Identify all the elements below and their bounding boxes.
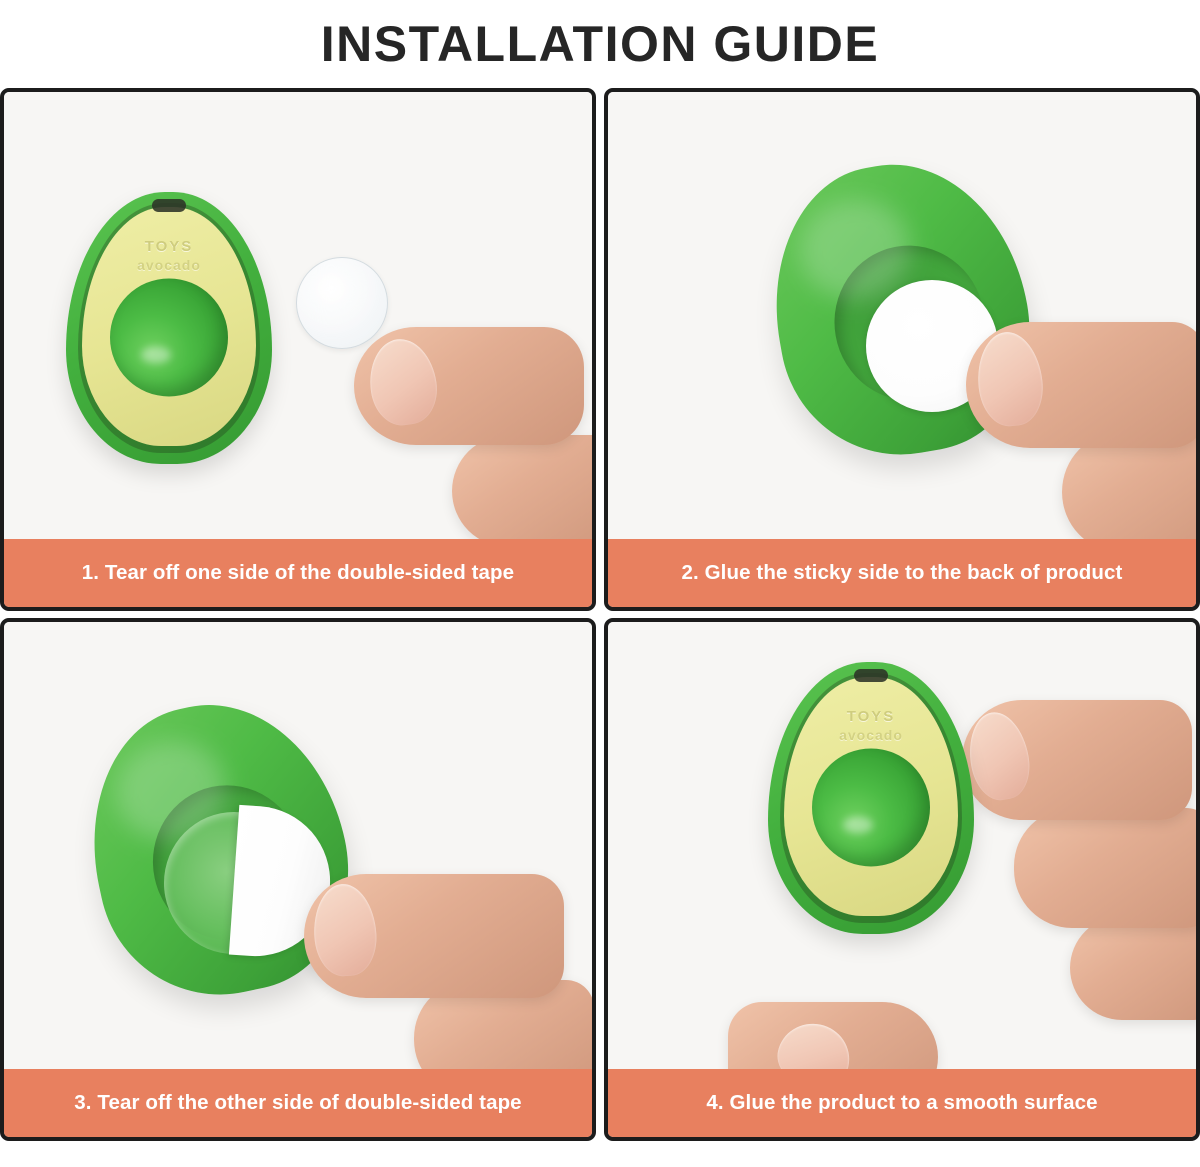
step-panel-2: 2. Glue the sticky side to the back of p… <box>604 88 1200 611</box>
step-caption-4: 4. Glue the product to a smooth surface <box>608 1069 1196 1137</box>
emboss-line-2: avocado <box>66 257 272 275</box>
avocado-notch <box>152 199 186 212</box>
finger-middle <box>452 435 592 539</box>
step-panel-1: TOYS avocado 1. Tear off one side of the… <box>0 88 596 611</box>
avocado-toy-front-icon: TOYS avocado <box>66 192 272 464</box>
installation-guide-page: INSTALLATION GUIDE TOYS avocado <box>0 0 1200 1167</box>
steps-grid: TOYS avocado 1. Tear off one side of the… <box>0 88 1200 1167</box>
step-photo-2 <box>608 92 1196 539</box>
finger-middle <box>1014 808 1196 928</box>
step-photo-4: TOYS avocado <box>608 622 1196 1069</box>
page-title: INSTALLATION GUIDE <box>321 19 879 69</box>
page-title-bar: INSTALLATION GUIDE <box>0 0 1200 88</box>
finger-middle <box>1062 432 1196 539</box>
hand-icon <box>304 840 592 1069</box>
hand-icon <box>938 672 1196 1069</box>
step-photo-3 <box>4 622 592 1069</box>
avocado-toy-front-icon: TOYS avocado <box>768 662 974 934</box>
avocado-pit <box>110 278 228 396</box>
step-panel-4: TOYS avocado 4. Glue the product to a sm… <box>604 618 1200 1141</box>
avocado-emboss-text: TOYS avocado <box>66 238 272 274</box>
avocado-notch <box>854 669 888 682</box>
emboss-line-1: TOYS <box>66 238 272 257</box>
step-caption-2: 2. Glue the sticky side to the back of p… <box>608 539 1196 607</box>
step-photo-1: TOYS avocado <box>4 92 592 539</box>
finger-ring <box>1070 916 1196 1020</box>
step-caption-3: 3. Tear off the other side of double-sid… <box>4 1069 592 1137</box>
hand-icon <box>334 267 592 539</box>
emboss-line-1: TOYS <box>768 708 974 727</box>
avocado-emboss-text: TOYS avocado <box>768 708 974 744</box>
step-panel-3: 3. Tear off the other side of double-sid… <box>0 618 596 1141</box>
avocado-pit <box>812 748 930 866</box>
emboss-line-2: avocado <box>768 727 974 745</box>
step-caption-1: 1. Tear off one side of the double-sided… <box>4 539 592 607</box>
hand-icon <box>966 274 1196 539</box>
